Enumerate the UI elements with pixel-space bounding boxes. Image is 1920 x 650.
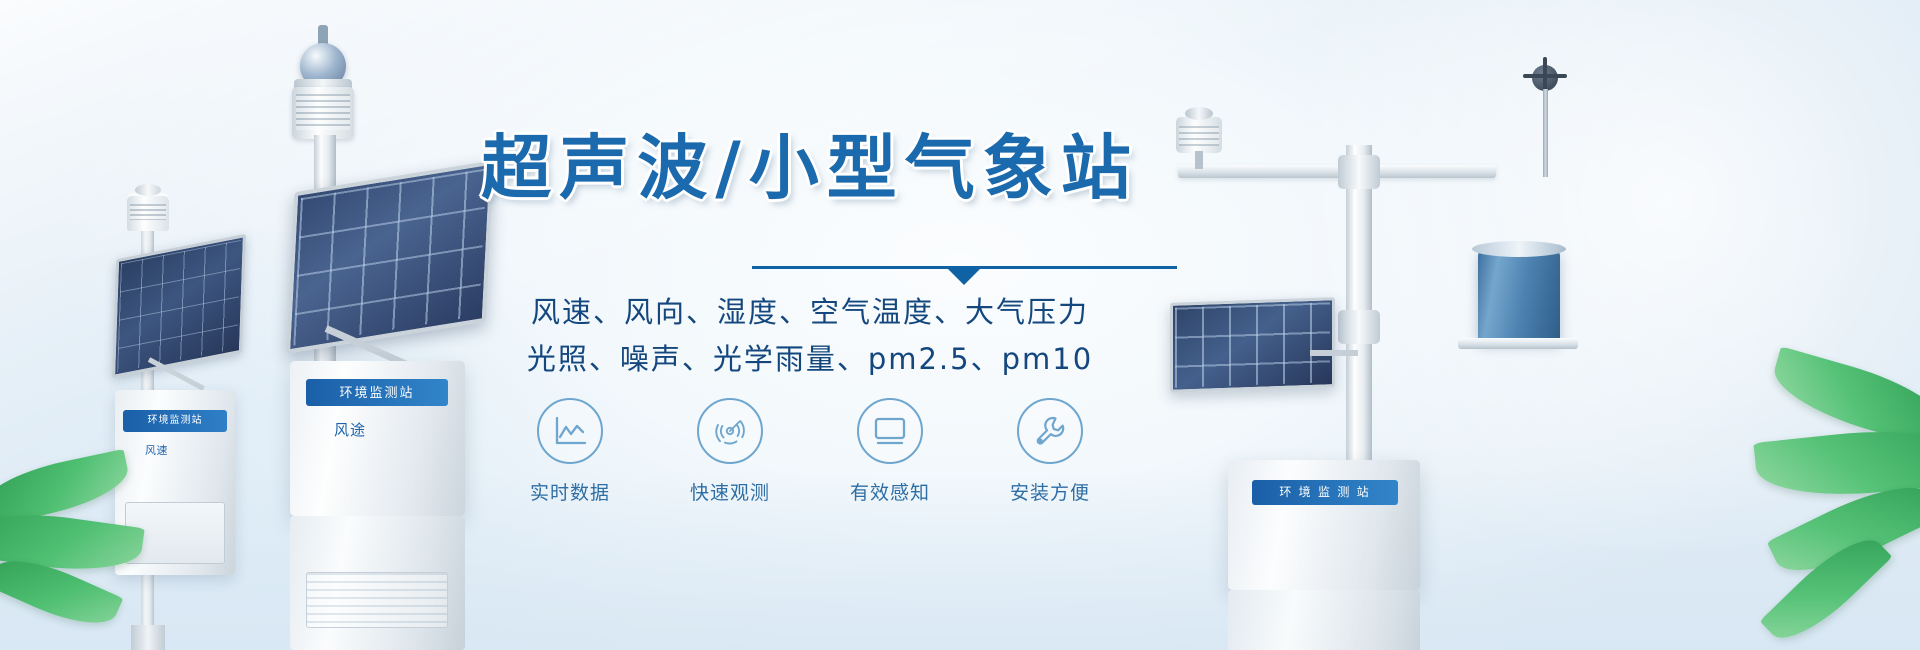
brand-logo-text: 风途 [334,419,366,440]
mast-collar-lower [1338,310,1380,344]
feature-icon-circle [697,398,763,464]
temperature-humidity-shield-icon [127,193,169,231]
feature-item-easy-installation[interactable]: 安装方便 [990,398,1110,505]
wind-vane-anemometer-icon [1528,65,1562,109]
control-cabinet: 环境监测站 风途 [290,361,465,516]
feature-item-realtime-data[interactable]: 实时数据 [510,398,630,505]
lower-cabinet [1228,590,1420,650]
feature-icon-circle [857,398,923,464]
subtitle-line-2: 光照、噪声、光学雨量、pm2.5、pm10 [440,336,1180,378]
mast-collar-upper [1338,155,1380,189]
decorative-leaf-right [1620,350,1920,650]
feature-label: 实时数据 [510,478,630,505]
ultrasonic-sensor [1176,117,1222,153]
divider-triangle-marker [948,269,980,285]
feature-label: 快速观测 [670,478,790,505]
line-chart-icon [552,414,588,448]
weather-station-right: 环 境 监 测 站 [1170,55,1590,650]
solar-panel [1170,297,1335,393]
rain-gauge-shelf [1458,338,1578,349]
feature-icon-circle [1017,398,1083,464]
panel-support-arm [1310,350,1358,356]
product-banner: 环境监测站 风速 环境监测站 风途 [0,0,1920,650]
decorative-leaf-left [0,420,230,650]
title-divider [752,266,1177,269]
page-title: 超声波/小型气象站 [440,112,1180,213]
cabinet-label-plate: 环 境 监 测 站 [1252,480,1398,505]
rain-gauge [1478,250,1560,342]
ultrasonic-sensor-stem [1195,151,1203,169]
feature-label: 安装方便 [990,478,1110,505]
feature-list: 实时数据 快 [510,398,1110,505]
monitor-icon [871,415,909,447]
feature-item-effective-sensing[interactable]: 有效感知 [830,398,950,505]
cabinet-vent [306,572,448,628]
subtitle-line-1: 风速、风向、湿度、空气温度、大气压力 [440,289,1180,331]
banner-content: 超声波/小型气象站 风速、风向、湿度、空气温度、大气压力 光照、噪声、光学雨量、… [440,0,1180,650]
lower-cabinet [290,516,465,650]
cabinet-label-text: 环境监测站 [306,379,448,406]
feature-icon-circle [537,398,603,464]
radiation-dome-sensor-icon [300,43,346,89]
cabinet-label-plate: 环境监测站 [306,379,448,406]
feature-item-fast-observation[interactable]: 快速观测 [670,398,790,505]
solar-panel [112,234,246,378]
control-cabinet: 环 境 监 测 站 [1228,460,1420,590]
radiation-shield-sensor [292,87,354,139]
cross-arm [1178,165,1496,178]
feature-label: 有效感知 [830,478,950,505]
cabinet-label-text: 环 境 监 测 站 [1252,480,1398,505]
wrench-icon [1032,413,1068,449]
radar-scan-icon [712,413,748,449]
